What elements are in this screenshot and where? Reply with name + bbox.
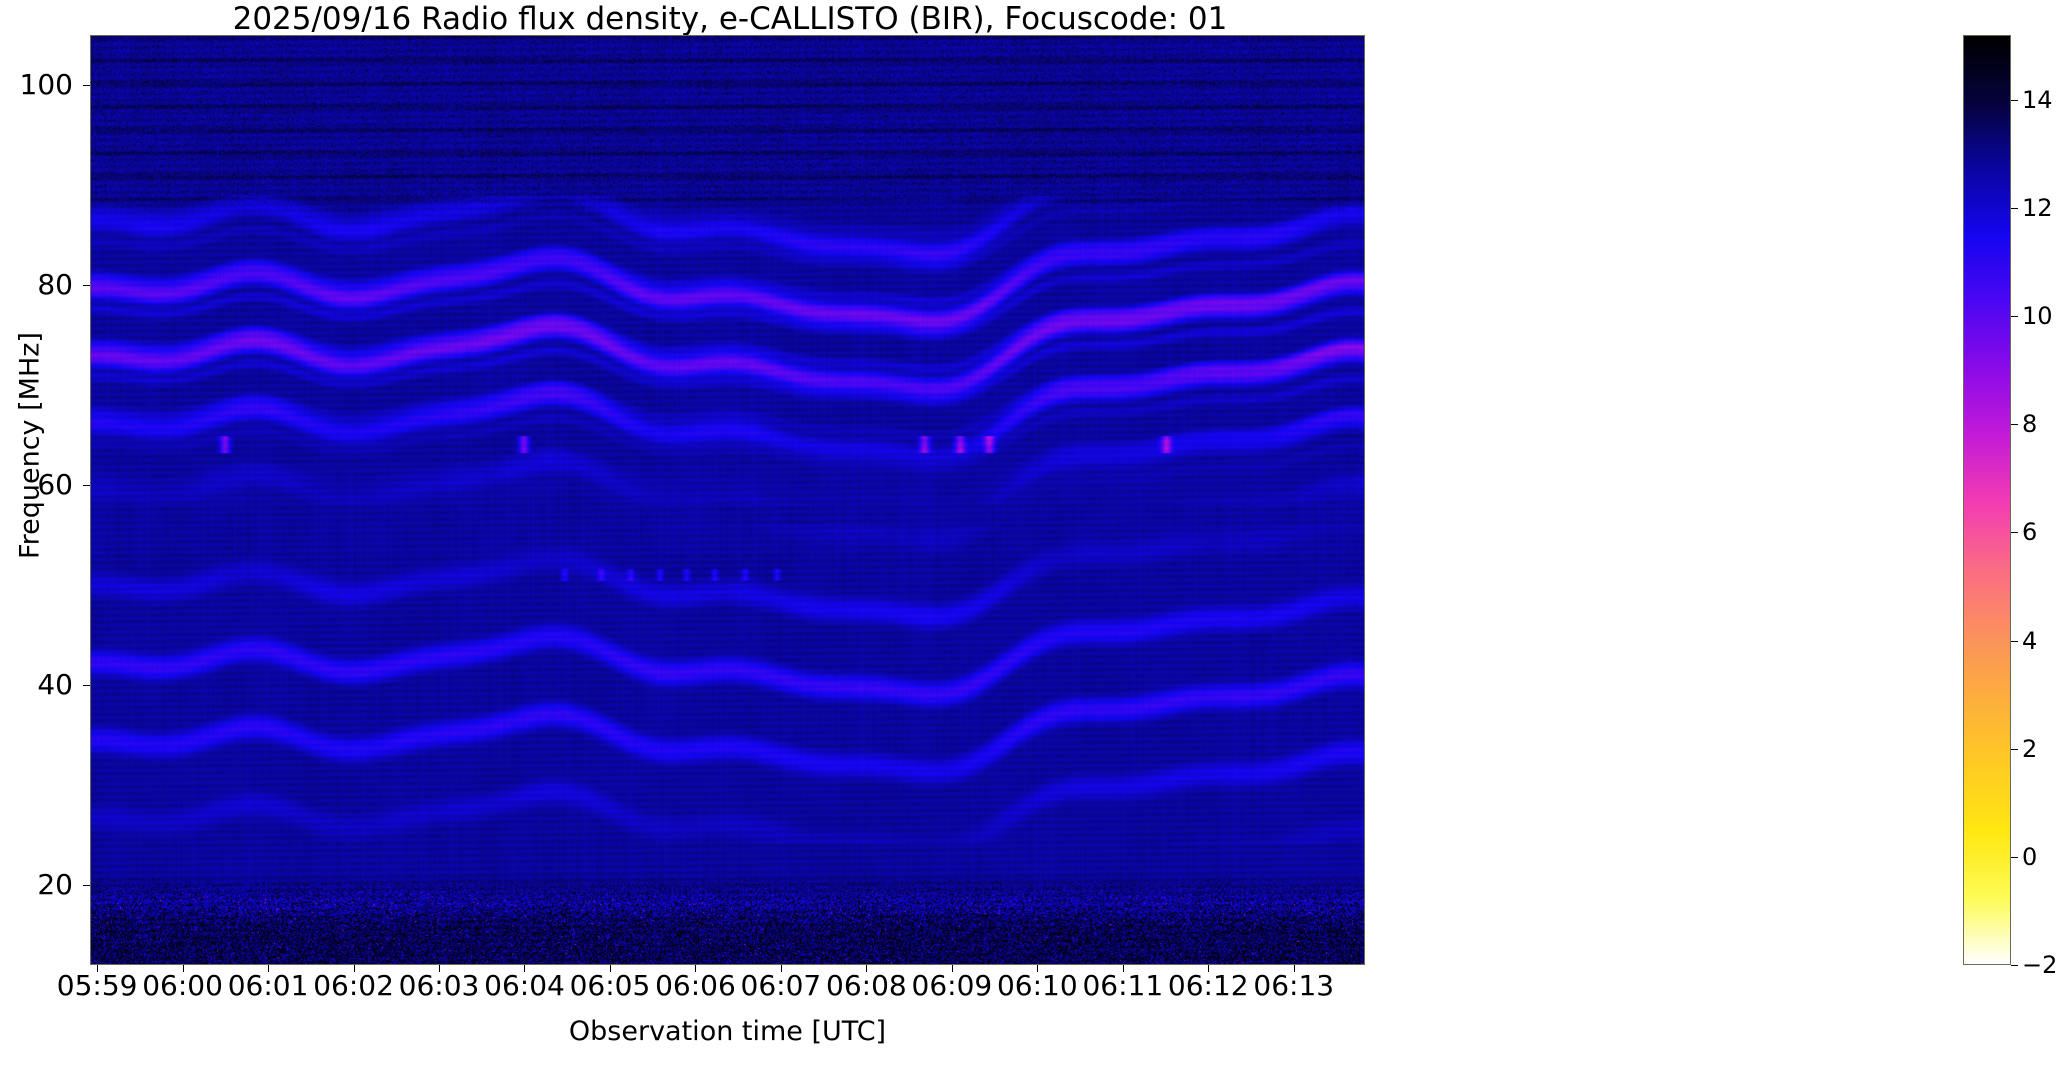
y-axis-tick-mark (83, 285, 90, 286)
y-axis-tick-mark (83, 685, 90, 686)
spectrogram-plot-area[interactable] (90, 35, 1365, 965)
colorbar-tick-mark (2011, 316, 2018, 317)
y-axis-tick-label: 40 (0, 671, 73, 699)
x-axis-tick-label: 06:13 (1234, 972, 1354, 1000)
y-axis-tick-label: 80 (0, 271, 73, 299)
colorbar-tick-label: 12 (2022, 196, 2053, 220)
colorbar-tick-mark (2011, 857, 2018, 858)
page-title: 2025/09/16 Radio flux density, e-CALLIST… (0, 1, 1460, 37)
y-axis-tick-mark (83, 885, 90, 886)
y-axis-tick-label: 100 (0, 71, 73, 99)
spectrogram-image (91, 36, 1364, 964)
colorbar-tick-label: 2 (2022, 737, 2037, 761)
colorbar-tick-label: −2 (2022, 953, 2057, 977)
colorbar-tick-label: 4 (2022, 629, 2037, 653)
colorbar-tick-label: 8 (2022, 412, 2037, 436)
colorbar-tick-mark (2011, 100, 2018, 101)
colorbar-tick-mark (2011, 965, 2018, 966)
figure-canvas: 2025/09/16 Radio flux density, e-CALLIST… (0, 0, 2066, 1067)
colorbar-tick-mark (2011, 641, 2018, 642)
y-axis-tick-label: 20 (0, 871, 73, 899)
y-axis-tick-label: 60 (0, 471, 73, 499)
colorbar-tick-label: 10 (2022, 304, 2053, 328)
colorbar[interactable]: 14121086420−2 (1963, 35, 2011, 965)
colorbar-tick-label: 0 (2022, 845, 2037, 869)
x-axis-label: Observation time [UTC] (90, 1016, 1365, 1047)
colorbar-gradient (1963, 35, 2011, 965)
y-axis-tick-mark (83, 485, 90, 486)
colorbar-tick-mark (2011, 749, 2018, 750)
colorbar-tick-label: 14 (2022, 88, 2053, 112)
colorbar-tick-mark (2011, 424, 2018, 425)
colorbar-tick-mark (2011, 532, 2018, 533)
colorbar-tick-mark (2011, 208, 2018, 209)
colorbar-tick-label: 6 (2022, 520, 2037, 544)
y-axis-tick-mark (83, 85, 90, 86)
